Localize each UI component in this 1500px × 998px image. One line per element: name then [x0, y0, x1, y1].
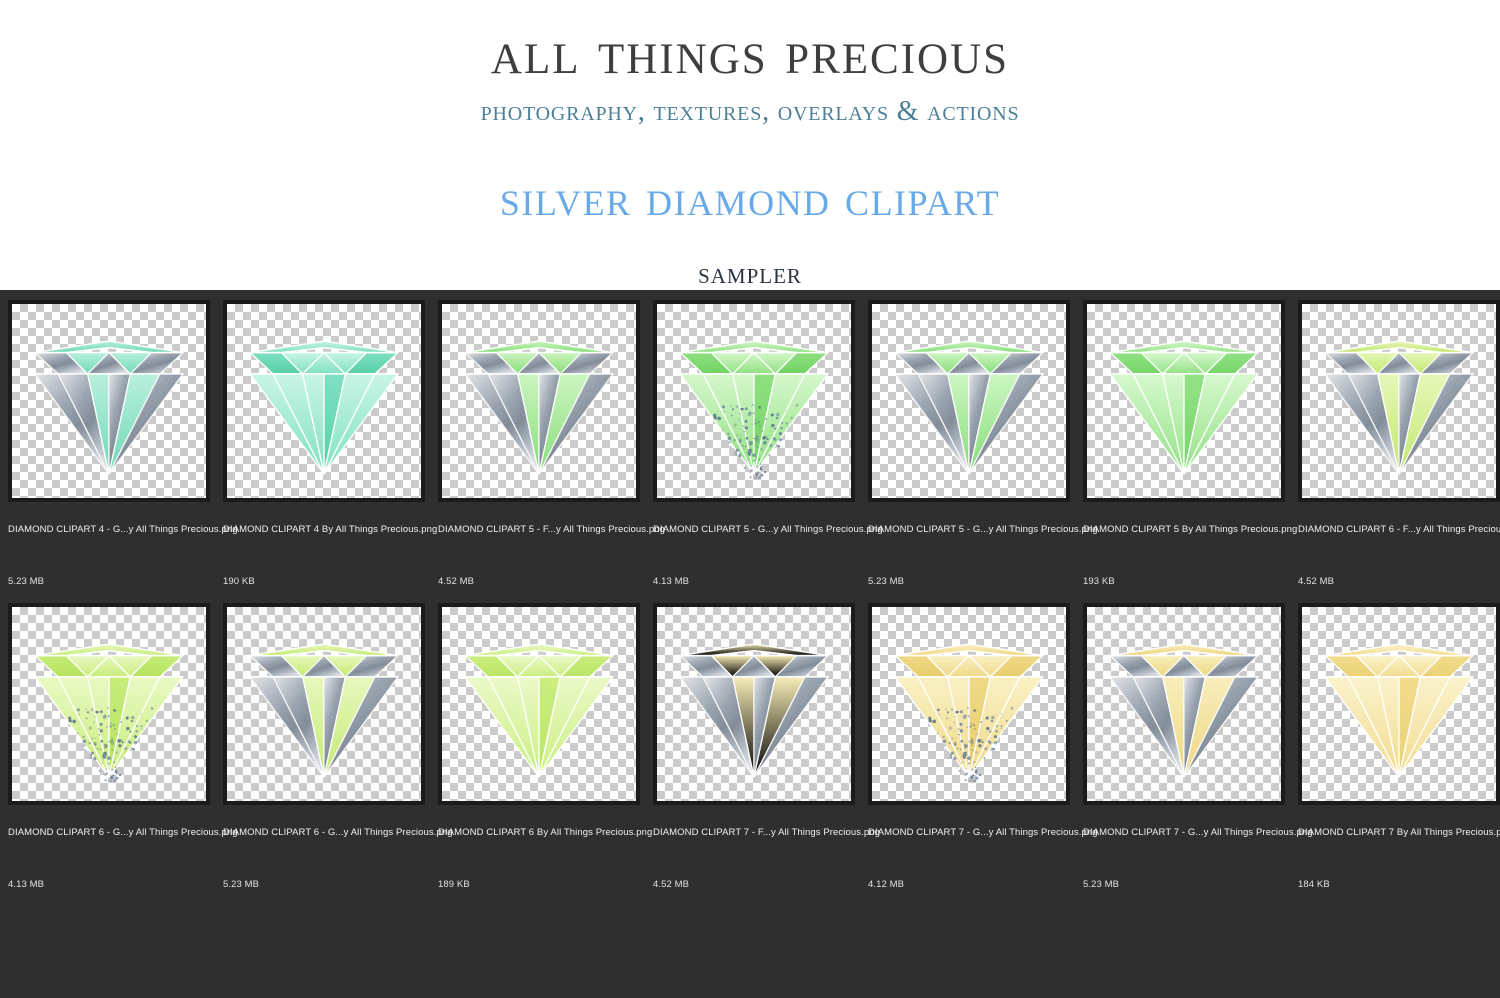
- thumbnail-frame[interactable]: [653, 603, 855, 805]
- thumbnail-frame[interactable]: [438, 300, 640, 502]
- file-size: 190 KB: [223, 576, 425, 588]
- file-name: DIAMOND CLIPART 5 - G...y All Things Pre…: [653, 524, 855, 536]
- gallery-item[interactable]: DIAMOND CLIPART 6 - G...y All Things Pre…: [223, 603, 425, 891]
- gallery-item[interactable]: DIAMOND CLIPART 5 By All Things Precious…: [1083, 300, 1285, 588]
- diamond-icon: [884, 626, 1054, 782]
- diamond-icon: [1099, 323, 1269, 479]
- diamond-icon: [884, 323, 1054, 479]
- file-size: 4.13 MB: [8, 879, 210, 891]
- thumbnail-frame[interactable]: [1083, 603, 1285, 805]
- file-size: 4.52 MB: [653, 879, 855, 891]
- file-name: DIAMOND CLIPART 7 - G...y All Things Pre…: [868, 827, 1070, 839]
- thumbnail-frame[interactable]: [8, 300, 210, 502]
- diamond-icon: [1314, 323, 1484, 479]
- gallery-item[interactable]: DIAMOND CLIPART 5 - F...y All Things Pre…: [438, 300, 640, 588]
- gallery-item[interactable]: DIAMOND CLIPART 6 - G...y All Things Pre…: [8, 603, 210, 891]
- brand-title: All Things Precious: [0, 0, 1500, 84]
- file-name: DIAMOND CLIPART 6 By All Things Precious…: [438, 827, 640, 839]
- file-name: DIAMOND CLIPART 5 By All Things Precious…: [1083, 524, 1285, 536]
- file-size: 5.23 MB: [1083, 879, 1285, 891]
- file-name: DIAMOND CLIPART 7 - F...y All Things Pre…: [653, 827, 855, 839]
- gallery-item[interactable]: DIAMOND CLIPART 7 - G...y All Things Pre…: [1083, 603, 1285, 891]
- file-size: 5.23 MB: [868, 576, 1070, 588]
- diamond-icon: [454, 626, 624, 782]
- diamond-icon: [669, 323, 839, 479]
- gallery-item[interactable]: DIAMOND CLIPART 5 - G...y All Things Pre…: [868, 300, 1070, 588]
- gallery-item[interactable]: DIAMOND CLIPART 7 - F...y All Things Pre…: [653, 603, 855, 891]
- sampler-header: All Things Precious Photography, Texture…: [0, 0, 1500, 290]
- file-name: DIAMOND CLIPART 7 - G...y All Things Pre…: [1083, 827, 1285, 839]
- file-name: DIAMOND CLIPART 5 - G...y All Things Pre…: [868, 524, 1070, 536]
- diamond-icon: [454, 323, 624, 479]
- diamond-icon: [24, 626, 194, 782]
- file-name: DIAMOND CLIPART 6 - G...y All Things Pre…: [8, 827, 210, 839]
- diamond-icon: [1099, 626, 1269, 782]
- file-name: DIAMOND CLIPART 4 By All Things Precious…: [223, 524, 425, 536]
- file-size: 4.13 MB: [653, 576, 855, 588]
- thumbnail-frame[interactable]: [868, 603, 1070, 805]
- file-size: 193 KB: [1083, 576, 1285, 588]
- brand-subtitle: Photography, Textures, Overlays & Action…: [0, 98, 1500, 126]
- gallery-item[interactable]: DIAMOND CLIPART 7 - G...y All Things Pre…: [868, 603, 1070, 891]
- thumbnail-frame[interactable]: [223, 300, 425, 502]
- thumbnail-frame[interactable]: [1298, 603, 1500, 805]
- thumbnail-frame[interactable]: [438, 603, 640, 805]
- diamond-icon: [1314, 626, 1484, 782]
- file-name: DIAMOND CLIPART 6 - F...y All Things Pre…: [1298, 524, 1500, 536]
- gallery-row-2: DIAMOND CLIPART 6 - G...y All Things Pre…: [0, 603, 1500, 903]
- file-size: 184 KB: [1298, 879, 1500, 891]
- file-name: DIAMOND CLIPART 7 By All Things Precious…: [1298, 827, 1500, 839]
- file-size: 4.52 MB: [1298, 576, 1500, 588]
- gallery-item[interactable]: DIAMOND CLIPART 7 By All Things Precious…: [1298, 603, 1500, 891]
- thumbnail-frame[interactable]: [8, 603, 210, 805]
- gallery-item[interactable]: DIAMOND CLIPART 6 By All Things Precious…: [438, 603, 640, 891]
- thumbnail-frame[interactable]: [1298, 300, 1500, 502]
- file-name: DIAMOND CLIPART 4 - G...y All Things Pre…: [8, 524, 210, 536]
- file-size: 4.12 MB: [868, 879, 1070, 891]
- gallery-item[interactable]: DIAMOND CLIPART 5 - G...y All Things Pre…: [653, 300, 855, 588]
- file-size: 5.23 MB: [223, 879, 425, 891]
- diamond-icon: [239, 626, 409, 782]
- gallery-item[interactable]: DIAMOND CLIPART 4 By All Things Precious…: [223, 300, 425, 588]
- file-size: 189 KB: [438, 879, 640, 891]
- file-size: 5.23 MB: [8, 576, 210, 588]
- gallery-item[interactable]: DIAMOND CLIPART 4 - G...y All Things Pre…: [8, 300, 210, 588]
- gallery-item[interactable]: DIAMOND CLIPART 6 - F...y All Things Pre…: [1298, 300, 1500, 588]
- thumbnail-gallery[interactable]: DIAMOND CLIPART 4 - G...y All Things Pre…: [0, 290, 1500, 998]
- product-title: Silver Diamond Clipart: [0, 173, 1500, 225]
- diamond-icon: [669, 626, 839, 782]
- thumbnail-frame[interactable]: [868, 300, 1070, 502]
- diamond-icon: [239, 323, 409, 479]
- file-size: 4.52 MB: [438, 576, 640, 588]
- file-name: DIAMOND CLIPART 6 - G...y All Things Pre…: [223, 827, 425, 839]
- gallery-row-1: DIAMOND CLIPART 4 - G...y All Things Pre…: [0, 300, 1500, 600]
- sampler-label: Sampler: [0, 259, 1500, 289]
- thumbnail-frame[interactable]: [223, 603, 425, 805]
- diamond-icon: [24, 323, 194, 479]
- thumbnail-frame[interactable]: [653, 300, 855, 502]
- thumbnail-frame[interactable]: [1083, 300, 1285, 502]
- file-name: DIAMOND CLIPART 5 - F...y All Things Pre…: [438, 524, 640, 536]
